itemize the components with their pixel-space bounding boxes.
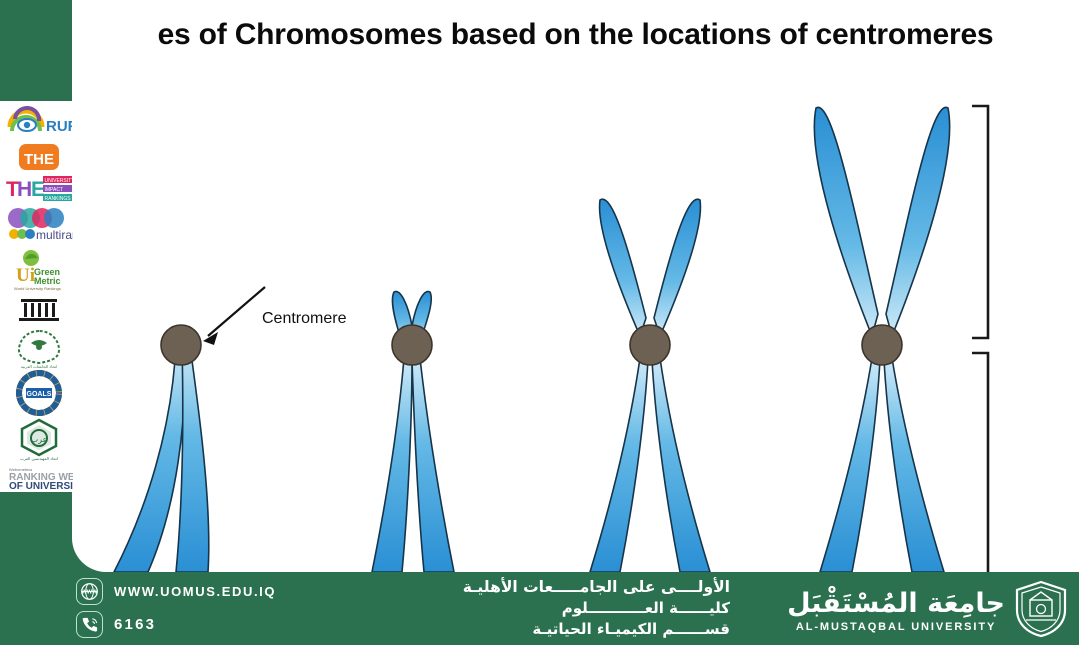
svg-text:World University Rankings: World University Rankings — [14, 286, 61, 291]
svg-text:IMPACT: IMPACT — [45, 187, 64, 193]
chromosome-acrocentric — [372, 291, 454, 572]
brand-text: جامِعَة المُسْتَقْبَل AL-MUSTAQBAL UNIVE… — [787, 590, 1005, 633]
long-arm-label-line1: Long — [1068, 496, 1079, 518]
svg-text:OF UNIVERSITIES: OF UNIVERSITIES — [9, 481, 73, 490]
svg-text:multirank: multirank — [36, 228, 73, 242]
brand-arabic-name: جامِعَة المُسْتَقْبَل — [787, 590, 1005, 617]
svg-text:RUR: RUR — [46, 118, 72, 135]
footer-arabic-block: الأولــــى على الجامـــــعات الأهليـة كل… — [330, 576, 730, 641]
footer-arabic-line-2: كليــــــة العـــــــــــلوم — [330, 598, 730, 619]
webometrics-icon: Webometrics RANKING WEB OF UNIVERSITIES — [5, 464, 73, 490]
the-impact-rankings-badge: T H E UNIVERSITY IMPACT RANKINGS — [5, 173, 73, 203]
footer-phone-row[interactable]: 6163 — [76, 611, 276, 638]
footer-brand-block: جامِعَة المُسْتَقْبَل AL-MUSTAQBAL UNIVE… — [787, 580, 1069, 643]
the-impact-rankings-icon: T H E UNIVERSITY IMPACT RANKINGS — [5, 173, 73, 203]
centromere-marker — [630, 325, 670, 365]
footer-contact-block: WWW WWW.UOMUS.EDU.IQ 6163 — [76, 578, 276, 644]
slide-stage: es of Chromosomes based on the locations… — [0, 0, 1079, 645]
the-ranking-badge: THE — [5, 142, 73, 172]
svg-text:E: E — [31, 178, 45, 201]
centromere-arrow — [203, 287, 265, 345]
sdg-goals-icon: GOALS — [11, 370, 67, 416]
long-arm-label: Long arm (q) — [1068, 496, 1079, 539]
chromosome-diagram-svg — [72, 60, 1079, 572]
the-ranking-icon: THE — [17, 142, 61, 172]
chromosome-diagram: Centromere Short arm (p) Long arm (q) — [72, 60, 1079, 572]
accreditation-badge-rail: RUR THE T H E UNIVERSITY IMPACT RANKINGS — [0, 101, 78, 492]
long-arm-label-line2: arm (q) — [1068, 518, 1079, 540]
arab-engineers-federation-icon: عرب اتحاد المهندسين العرب — [10, 417, 68, 463]
svg-text:Ui: Ui — [16, 265, 35, 286]
long-arm-bracket — [972, 353, 988, 572]
centromere-marker — [392, 325, 432, 365]
webometrics-badge: Webometrics RANKING WEB OF UNIVERSITIES — [5, 464, 73, 490]
globe-www-icon: WWW — [76, 578, 103, 605]
chromosome-telocentric — [114, 325, 209, 572]
phone-icon — [76, 611, 103, 638]
brand-english-name: AL-MUSTAQBAL UNIVERSITY — [787, 621, 1005, 633]
centromere-marker — [862, 325, 902, 365]
svg-text:عرب: عرب — [31, 435, 48, 444]
short-arm-label: Short arm (p) — [1068, 252, 1079, 295]
svg-text:اتحاد المهندسين العرب: اتحاد المهندسين العرب — [20, 456, 58, 461]
centromere-marker — [161, 325, 201, 365]
unesco-badge — [5, 292, 73, 326]
svg-text:THE: THE — [24, 151, 54, 168]
arab-engineers-federation-badge: عرب اتحاد المهندسين العرب — [5, 417, 73, 463]
svg-text:Metric: Metric — [34, 276, 61, 286]
arab-universities-union-icon: اتحاد الجامعات العربية — [9, 327, 69, 369]
short-arm-label-line2: arm (p) — [1068, 274, 1079, 296]
chromosome-metacentric — [814, 107, 949, 572]
svg-text:RANKINGS: RANKINGS — [45, 196, 72, 202]
chromosome-submetacentric — [590, 199, 710, 572]
svg-text:WWW: WWW — [81, 589, 98, 595]
page-title: es of Chromosomes based on the locations… — [72, 18, 1079, 52]
svg-text:اتحاد الجامعات العربية: اتحاد الجامعات العربية — [21, 364, 57, 369]
short-arm-label-line1: Short — [1068, 252, 1079, 274]
ui-greenmetric-icon: Ui Green Metric World University Ranking… — [5, 247, 73, 291]
footer-phone-text: 6163 — [114, 616, 156, 633]
footer-website-row[interactable]: WWW WWW.UOMUS.EDU.IQ — [76, 578, 276, 605]
short-arm-bracket — [972, 106, 988, 338]
footer-arabic-line-3: قســــــم الكيميـاء الحياتيـة — [330, 619, 730, 640]
svg-text:UNIVERSITY: UNIVERSITY — [45, 178, 74, 184]
footer-arabic-line-1: الأولــــى على الجامـــــعات الأهليـة — [330, 576, 730, 598]
rur-ranking-badge: RUR — [5, 105, 73, 141]
unesco-temple-icon — [11, 292, 67, 326]
multirank-icon: multirank — [5, 204, 73, 246]
arab-universities-union-badge: اتحاد الجامعات العربية — [5, 327, 73, 369]
ui-greenmetric-badge: Ui Green Metric World University Ranking… — [5, 247, 73, 291]
sidebar-green-block — [0, 0, 72, 101]
mustaqbal-shield-logo — [1013, 580, 1069, 643]
svg-text:GOALS: GOALS — [27, 391, 52, 398]
svg-text:H: H — [17, 178, 32, 201]
centromere-label: Centromere — [262, 310, 346, 328]
slide-footer: WWW WWW.UOMUS.EDU.IQ 6163 الأولــــى على… — [0, 572, 1079, 645]
footer-website-text: WWW.UOMUS.EDU.IQ — [114, 584, 276, 599]
multirank-badge: multirank — [5, 204, 73, 246]
sdg-goals-badge: GOALS — [5, 370, 73, 416]
rur-ranking-icon: RUR — [6, 105, 72, 141]
